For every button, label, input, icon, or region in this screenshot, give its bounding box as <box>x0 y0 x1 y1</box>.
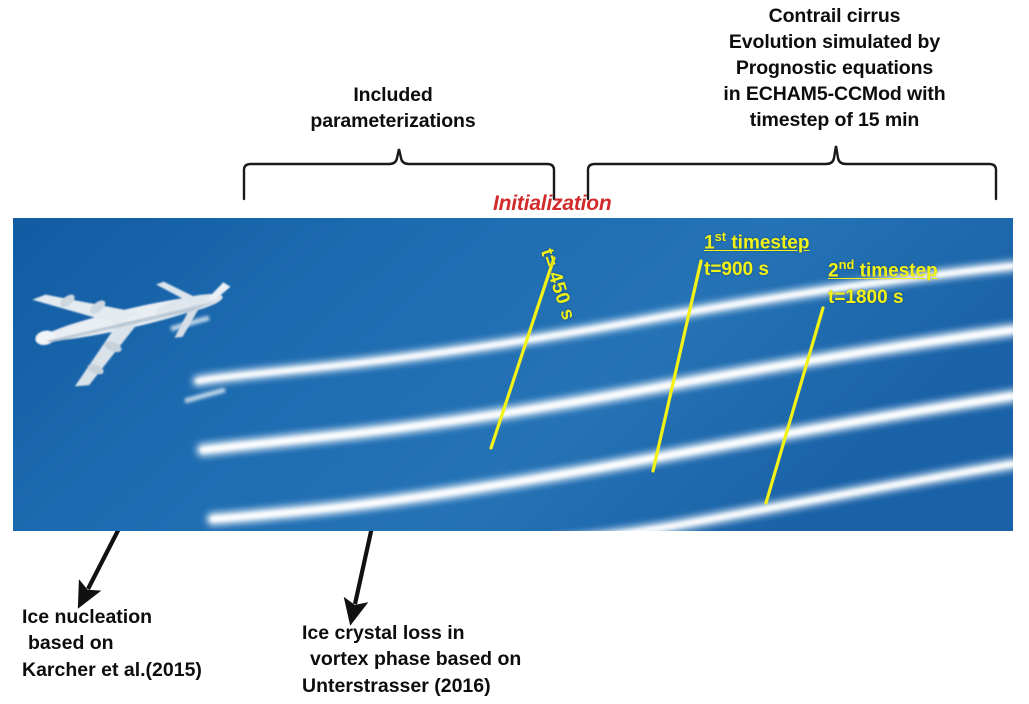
heading-line: Evolution simulated by <box>640 30 1029 56</box>
caption-line: Ice nucleation <box>22 604 202 630</box>
heading-included-parameterizations: Included parameterizations <box>243 83 543 135</box>
label-second-timestep-header: 2nd timestep <box>828 256 938 285</box>
caption-ice-nucleation: Ice nucleation based on Karcher et al.(2… <box>22 604 202 683</box>
heading-contrail-cirrus: Contrail cirrus Evolution simulated by P… <box>640 4 1029 134</box>
label-first-timestep-header: 1st timestep <box>704 228 809 257</box>
caption-line: Karcher et al.(2015) <box>22 657 202 683</box>
label-first-timestep: 1st timestep t=900 s <box>704 228 809 283</box>
heading-line: in ECHAM5-CCMod with <box>640 82 1029 108</box>
brace-contrail-evolution <box>588 146 996 199</box>
heading-line: timestep of 15 min <box>640 108 1029 134</box>
caption-vortex-phase: Ice crystal loss in vortex phase based o… <box>302 620 521 699</box>
contrail-figure: Included parameterizations Contrail cirr… <box>0 0 1029 704</box>
label-first-timestep-value: t=900 s <box>704 257 809 283</box>
caption-line: Unterstrasser (2016) <box>302 673 521 699</box>
heading-line: Included <box>243 83 543 109</box>
label-initialization: Initialization <box>493 192 612 216</box>
label-second-timestep: 2nd timestep t=1800 s <box>828 256 938 311</box>
caption-line: Ice crystal loss in <box>302 620 521 646</box>
caption-line: vortex phase based on <box>302 646 521 672</box>
caption-line: based on <box>22 630 202 656</box>
label-second-timestep-value: t=1800 s <box>828 285 938 311</box>
heading-line: parameterizations <box>243 109 543 135</box>
heading-line: Prognostic equations <box>640 56 1029 82</box>
heading-line: Contrail cirrus <box>640 4 1029 30</box>
